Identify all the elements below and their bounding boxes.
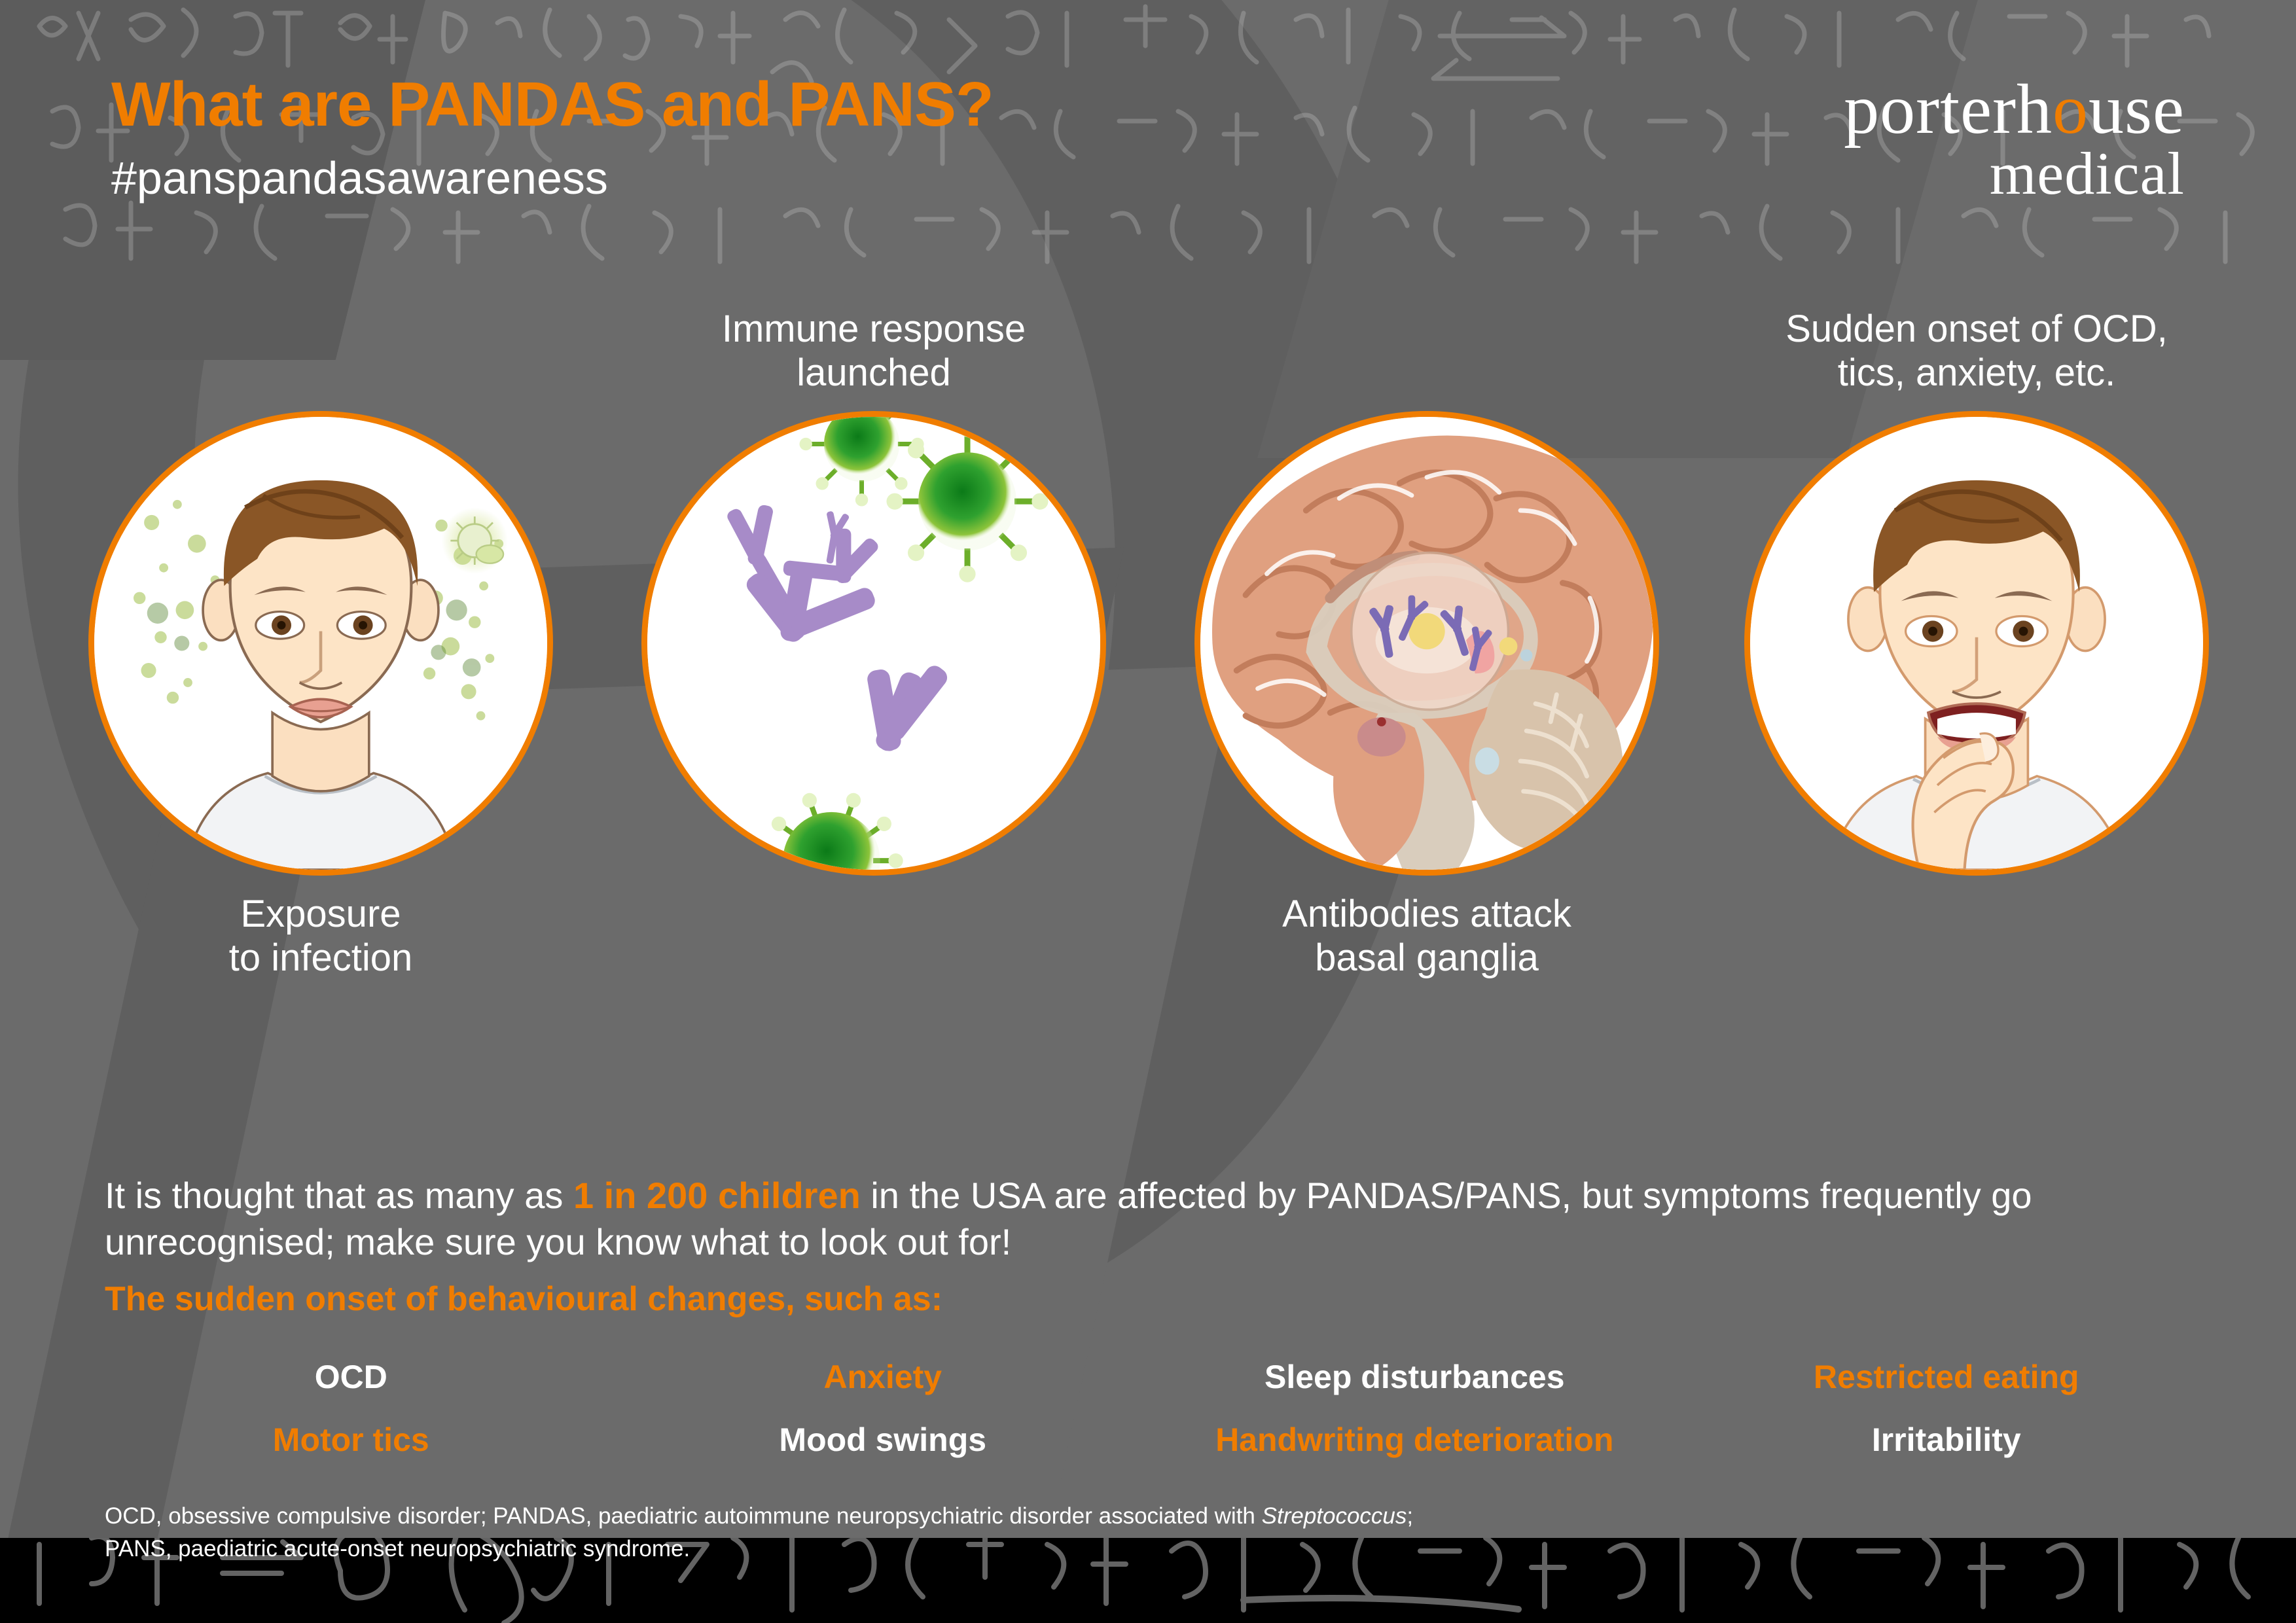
antibodies-and-viruses-icon <box>647 417 1100 870</box>
symptom-handwriting-deterioration: Handwriting deterioration <box>1149 1421 1681 1459</box>
logo-line-2: medical <box>1844 146 2185 202</box>
footnote-line-2: PANS, paediatric acute-onset neuropsychi… <box>105 1533 1872 1565</box>
logo-word-after: use <box>2089 71 2185 149</box>
symptom-anxiety: Anxiety <box>617 1358 1149 1396</box>
logo-word-before: porterh <box>1844 71 2053 149</box>
logo-highlight-letter: o <box>2053 71 2089 149</box>
step-2-illustration <box>641 411 1106 876</box>
brain-sagittal-section-icon <box>1200 417 1653 870</box>
boy-biting-nails-icon <box>1750 417 2203 870</box>
footnote-text-a: OCD, obsessive compulsive disorder; PAND… <box>105 1503 1262 1529</box>
header: What are PANDAS and PANS? #panspandasawa… <box>111 72 994 201</box>
step-symptom-onset: Sudden onset of OCD, tics, anxiety, etc. <box>1728 308 2225 984</box>
symptom-mood-swings: Mood swings <box>617 1421 1149 1459</box>
stat-highlight: 1 in 200 children <box>573 1175 861 1216</box>
symptom-row-2: Motor tics Mood swings Handwriting deter… <box>85 1421 2212 1459</box>
step-basal-ganglia: Antibodies attack basal ganglia <box>1178 308 1676 984</box>
step-1-bottom-caption: Exposure to infection <box>72 893 569 984</box>
stat-text-before: It is thought that as many as <box>105 1175 573 1216</box>
step-4-illustration <box>1744 411 2209 876</box>
symptom-irritability: Irritability <box>1681 1421 2213 1459</box>
symptom-row-1: OCD Anxiety Sleep disturbances Restricte… <box>85 1358 2212 1396</box>
symptom-grid: OCD Anxiety Sleep disturbances Restricte… <box>85 1358 2212 1459</box>
hashtag: #panspandasawareness <box>111 155 994 201</box>
symptom-sleep-disturbances: Sleep disturbances <box>1149 1358 1681 1396</box>
logo-line-1: porterhouse <box>1844 77 2185 142</box>
symptom-restricted-eating: Restricted eating <box>1681 1358 2213 1396</box>
footnote-italic-term: Streptococcus <box>1262 1503 1407 1529</box>
step-3-bottom-caption: Antibodies attack basal ganglia <box>1178 893 1676 984</box>
infographic-canvas: What are PANDAS and PANS? #panspandasawa… <box>0 0 2296 1623</box>
abbreviations-footnote: OCD, obsessive compulsive disorder; PAND… <box>105 1500 1872 1565</box>
step-2-top-caption: Immune response launched <box>625 308 1122 399</box>
process-steps: Exposure to infection Immune response la… <box>0 308 2296 1080</box>
step-immune-response: Immune response launched <box>625 308 1122 984</box>
symptom-ocd: OCD <box>85 1358 617 1396</box>
boy-face-with-germs-icon <box>94 417 547 870</box>
step-exposure: Exposure to infection <box>72 308 569 984</box>
statistic-paragraph: It is thought that as many as 1 in 200 c… <box>105 1172 2212 1265</box>
step-4-top-caption: Sudden onset of OCD, tics, anxiety, etc. <box>1728 308 2225 399</box>
page-title: What are PANDAS and PANS? <box>111 72 994 138</box>
footnote-line-1: OCD, obsessive compulsive disorder; PAND… <box>105 1500 1872 1533</box>
symptom-motor-tics: Motor tics <box>85 1421 617 1459</box>
symptoms-subheading: The sudden onset of behavioural changes,… <box>105 1279 942 1319</box>
brand-logo: porterhouse medical <box>1844 77 2185 202</box>
step-3-illustration <box>1194 411 1659 876</box>
footnote-text-b: ; <box>1407 1503 1413 1529</box>
step-1-illustration <box>88 411 553 876</box>
